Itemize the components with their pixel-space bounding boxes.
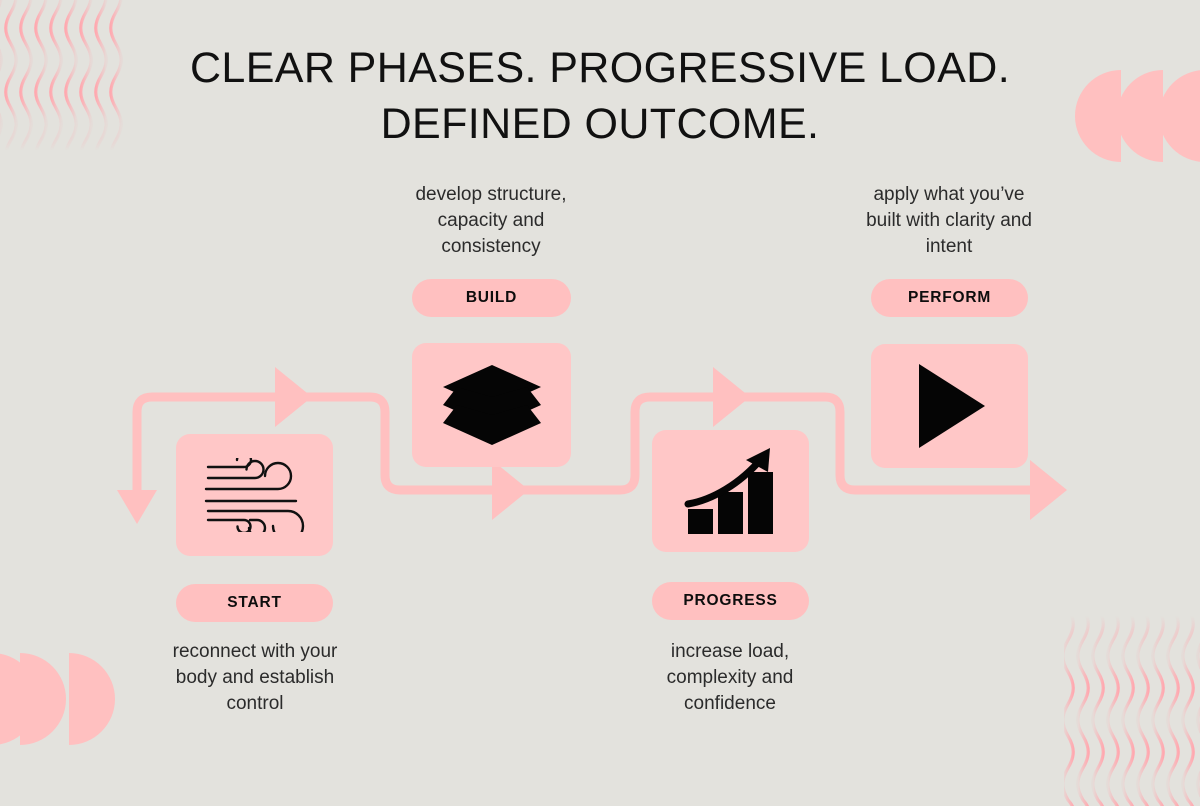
infographic-canvas: CLEAR PHASES. PROGRESSIVE LOAD. DEFINED … [0,0,1200,800]
phase-build-label: BUILD [466,289,517,307]
phase-progress-caption: increase load, complexity and confidence [630,639,830,717]
phase-progress-label: PROGRESS [683,592,777,610]
phase-start-caption: reconnect with your body and establish c… [150,639,360,717]
phase-progress-icon-card [652,430,809,552]
phase-start[interactable]: START reconnect with your body and estab… [176,434,333,717]
phase-build-icon-card [412,343,571,467]
phase-perform-badge[interactable]: PERFORM [871,279,1028,317]
phase-perform[interactable]: apply what you’ve built with clarity and… [871,182,1028,468]
growth-chart-icon [682,446,780,536]
phase-build-badge[interactable]: BUILD [412,279,571,317]
phase-progress[interactable]: PROGRESS increase load, complexity and c… [652,430,809,717]
flow-arrow-right-1 [275,367,312,427]
phase-perform-caption: apply what you’ve built with clarity and… [854,182,1044,260]
phase-build-caption: develop structure, capacity and consiste… [391,182,591,260]
flow-arrow-right-2 [492,460,529,520]
phase-start-icon-card [176,434,333,556]
phase-start-label: START [227,594,282,612]
phase-progress-badge[interactable]: PROGRESS [652,582,809,620]
play-triangle-icon [913,362,987,450]
flow-arrow-down-start [117,490,157,524]
phase-perform-icon-card [871,344,1028,468]
wind-icon [200,458,310,532]
layers-icon [441,363,543,447]
phase-start-badge[interactable]: START [176,584,333,622]
flow-arrow-right-end [1030,460,1067,520]
phase-perform-label: PERFORM [908,289,991,307]
phase-build[interactable]: develop structure, capacity and consiste… [412,182,571,467]
flow-arrow-right-3 [713,367,750,427]
